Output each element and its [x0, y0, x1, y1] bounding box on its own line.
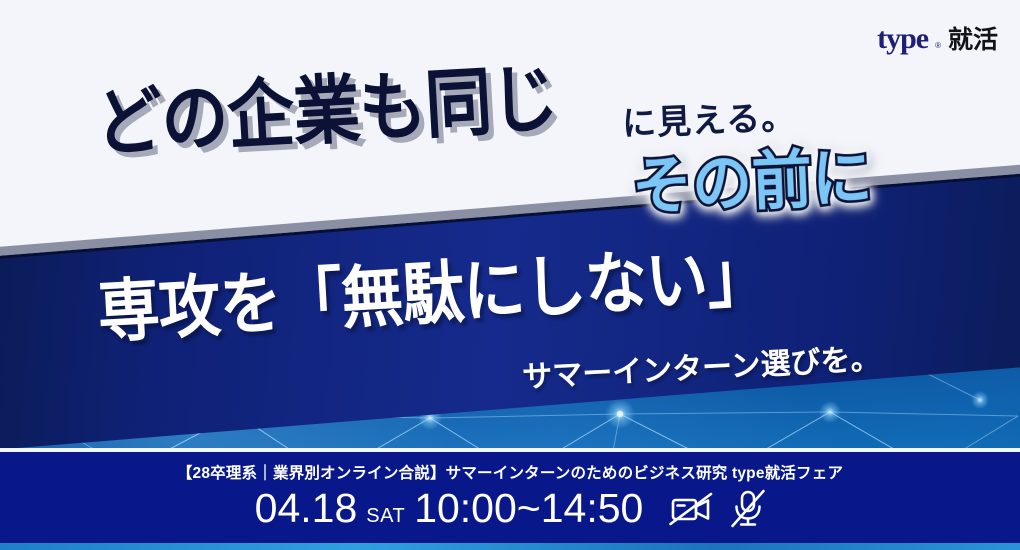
event-condition-icons	[669, 489, 765, 529]
event-datetime: 04.18 SAT 10:00~14:50	[255, 488, 644, 529]
logo-registered-mark: ®	[935, 41, 941, 50]
headline-badge-sonomaeni: その前に	[630, 126, 874, 228]
logo-wordmark: type	[877, 24, 928, 54]
event-date: 04.18	[255, 488, 358, 529]
event-time-range: 10:00~14:50	[414, 488, 643, 529]
type-shukatsu-logo: type ® 就活	[877, 24, 998, 54]
event-title: 【28卒理系｜業界別オンライン合説】サマーインターンのためのビジネス研究 typ…	[177, 461, 843, 483]
event-banner: type ® 就活 どの企業も同じ に見える。 その前に 専攻を「無駄にしない」…	[0, 0, 1020, 550]
event-schedule-row: 04.18 SAT 10:00~14:50	[255, 488, 766, 529]
event-info-bar: 【28卒理系｜業界別オンライン合説】サマーインターンのためのビジネス研究 typ…	[0, 452, 1020, 550]
camera-off-icon	[669, 490, 713, 528]
event-day-of-week: SAT	[366, 506, 405, 526]
microphone-off-icon	[731, 489, 765, 529]
logo-japanese-text: 就活	[948, 28, 998, 53]
